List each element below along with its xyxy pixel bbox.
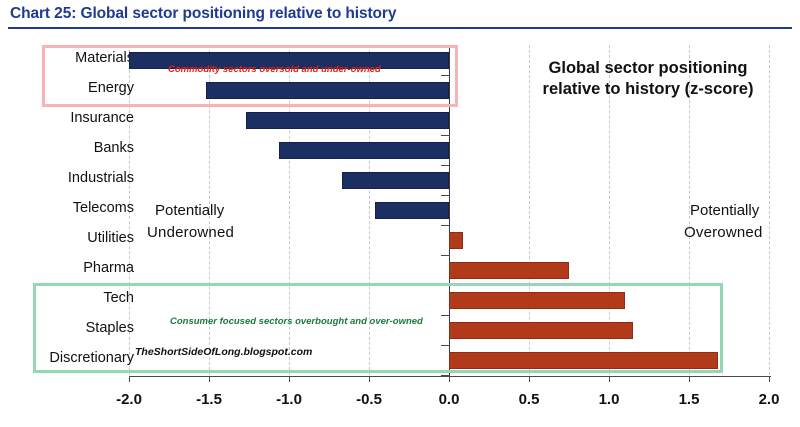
bar [449, 232, 463, 249]
category-label-row: Industrials [0, 171, 140, 189]
category-label: Utilities [0, 231, 140, 246]
x-axis-tick-label: -1.5 [196, 391, 222, 408]
category-label-row: Insurance [0, 111, 140, 129]
category-label: Banks [0, 141, 140, 156]
x-axis-tick-label: -1.0 [276, 391, 302, 408]
x-axis-tick [209, 376, 210, 382]
category-label: Pharma [0, 261, 140, 276]
x-axis-tick [129, 376, 130, 382]
x-axis-tick [529, 376, 530, 382]
category-label: Industrials [0, 171, 140, 186]
y-axis-tick [441, 165, 450, 166]
x-axis-tick [689, 376, 690, 382]
y-axis-tick [441, 255, 450, 256]
x-axis-tick-label: 0.5 [519, 391, 540, 408]
bar [279, 142, 449, 159]
y-axis-tick [441, 375, 450, 376]
annotation-commodity: Commodity sectors oversold and under-own… [168, 64, 381, 75]
x-axis-tick [449, 376, 450, 382]
x-axis-tick [289, 376, 290, 382]
x-axis-tick-label: -2.0 [116, 391, 142, 408]
x-axis-tick-label: 2.0 [759, 391, 780, 408]
highlight-box-consumer [33, 283, 723, 373]
category-label: Insurance [0, 111, 140, 126]
x-axis-tick-label: 1.5 [679, 391, 700, 408]
zone-overowned-line1: Potentially [690, 200, 763, 222]
x-axis-tick-label: -0.5 [356, 391, 382, 408]
category-label-row: Telecoms [0, 201, 140, 219]
bar [449, 262, 569, 279]
zone-overowned-line2: Overowned [684, 222, 763, 244]
zone-underowned-line1: Potentially [155, 200, 234, 222]
x-axis-tick [369, 376, 370, 382]
zone-underowned-line2: Underowned [147, 222, 234, 244]
x-axis-tick-label: 1.0 [599, 391, 620, 408]
y-axis-tick [441, 225, 450, 226]
x-axis-tick-label: 0.0 [439, 391, 460, 408]
bar [246, 112, 449, 129]
watermark-attribution: TheShortSideOfLong.blogspot.com [135, 346, 312, 358]
x-axis-line [130, 376, 771, 377]
annotation-consumer: Consumer focused sectors overbought and … [170, 316, 423, 327]
bar [375, 202, 449, 219]
x-axis-tick [609, 376, 610, 382]
y-axis-tick [441, 195, 450, 196]
category-label-row: Banks [0, 141, 140, 159]
bar [342, 172, 449, 189]
chart-subtitle: Global sector positioning relative to hi… [498, 58, 798, 99]
chart-subtitle-line1: Global sector positioning [498, 58, 798, 79]
chart-subtitle-line2: relative to history (z-score) [498, 79, 798, 100]
x-axis-tick [769, 376, 770, 382]
chart-container: Chart 25: Global sector positioning rela… [0, 0, 800, 427]
zone-label-overowned: Potentially Overowned [690, 200, 763, 244]
zone-label-underowned: Potentially Underowned [155, 200, 234, 244]
category-label-row: Pharma [0, 261, 140, 279]
y-axis-tick [441, 135, 450, 136]
highlight-box-commodity [42, 45, 458, 107]
category-label-row: Utilities [0, 231, 140, 249]
category-label: Telecoms [0, 201, 140, 216]
